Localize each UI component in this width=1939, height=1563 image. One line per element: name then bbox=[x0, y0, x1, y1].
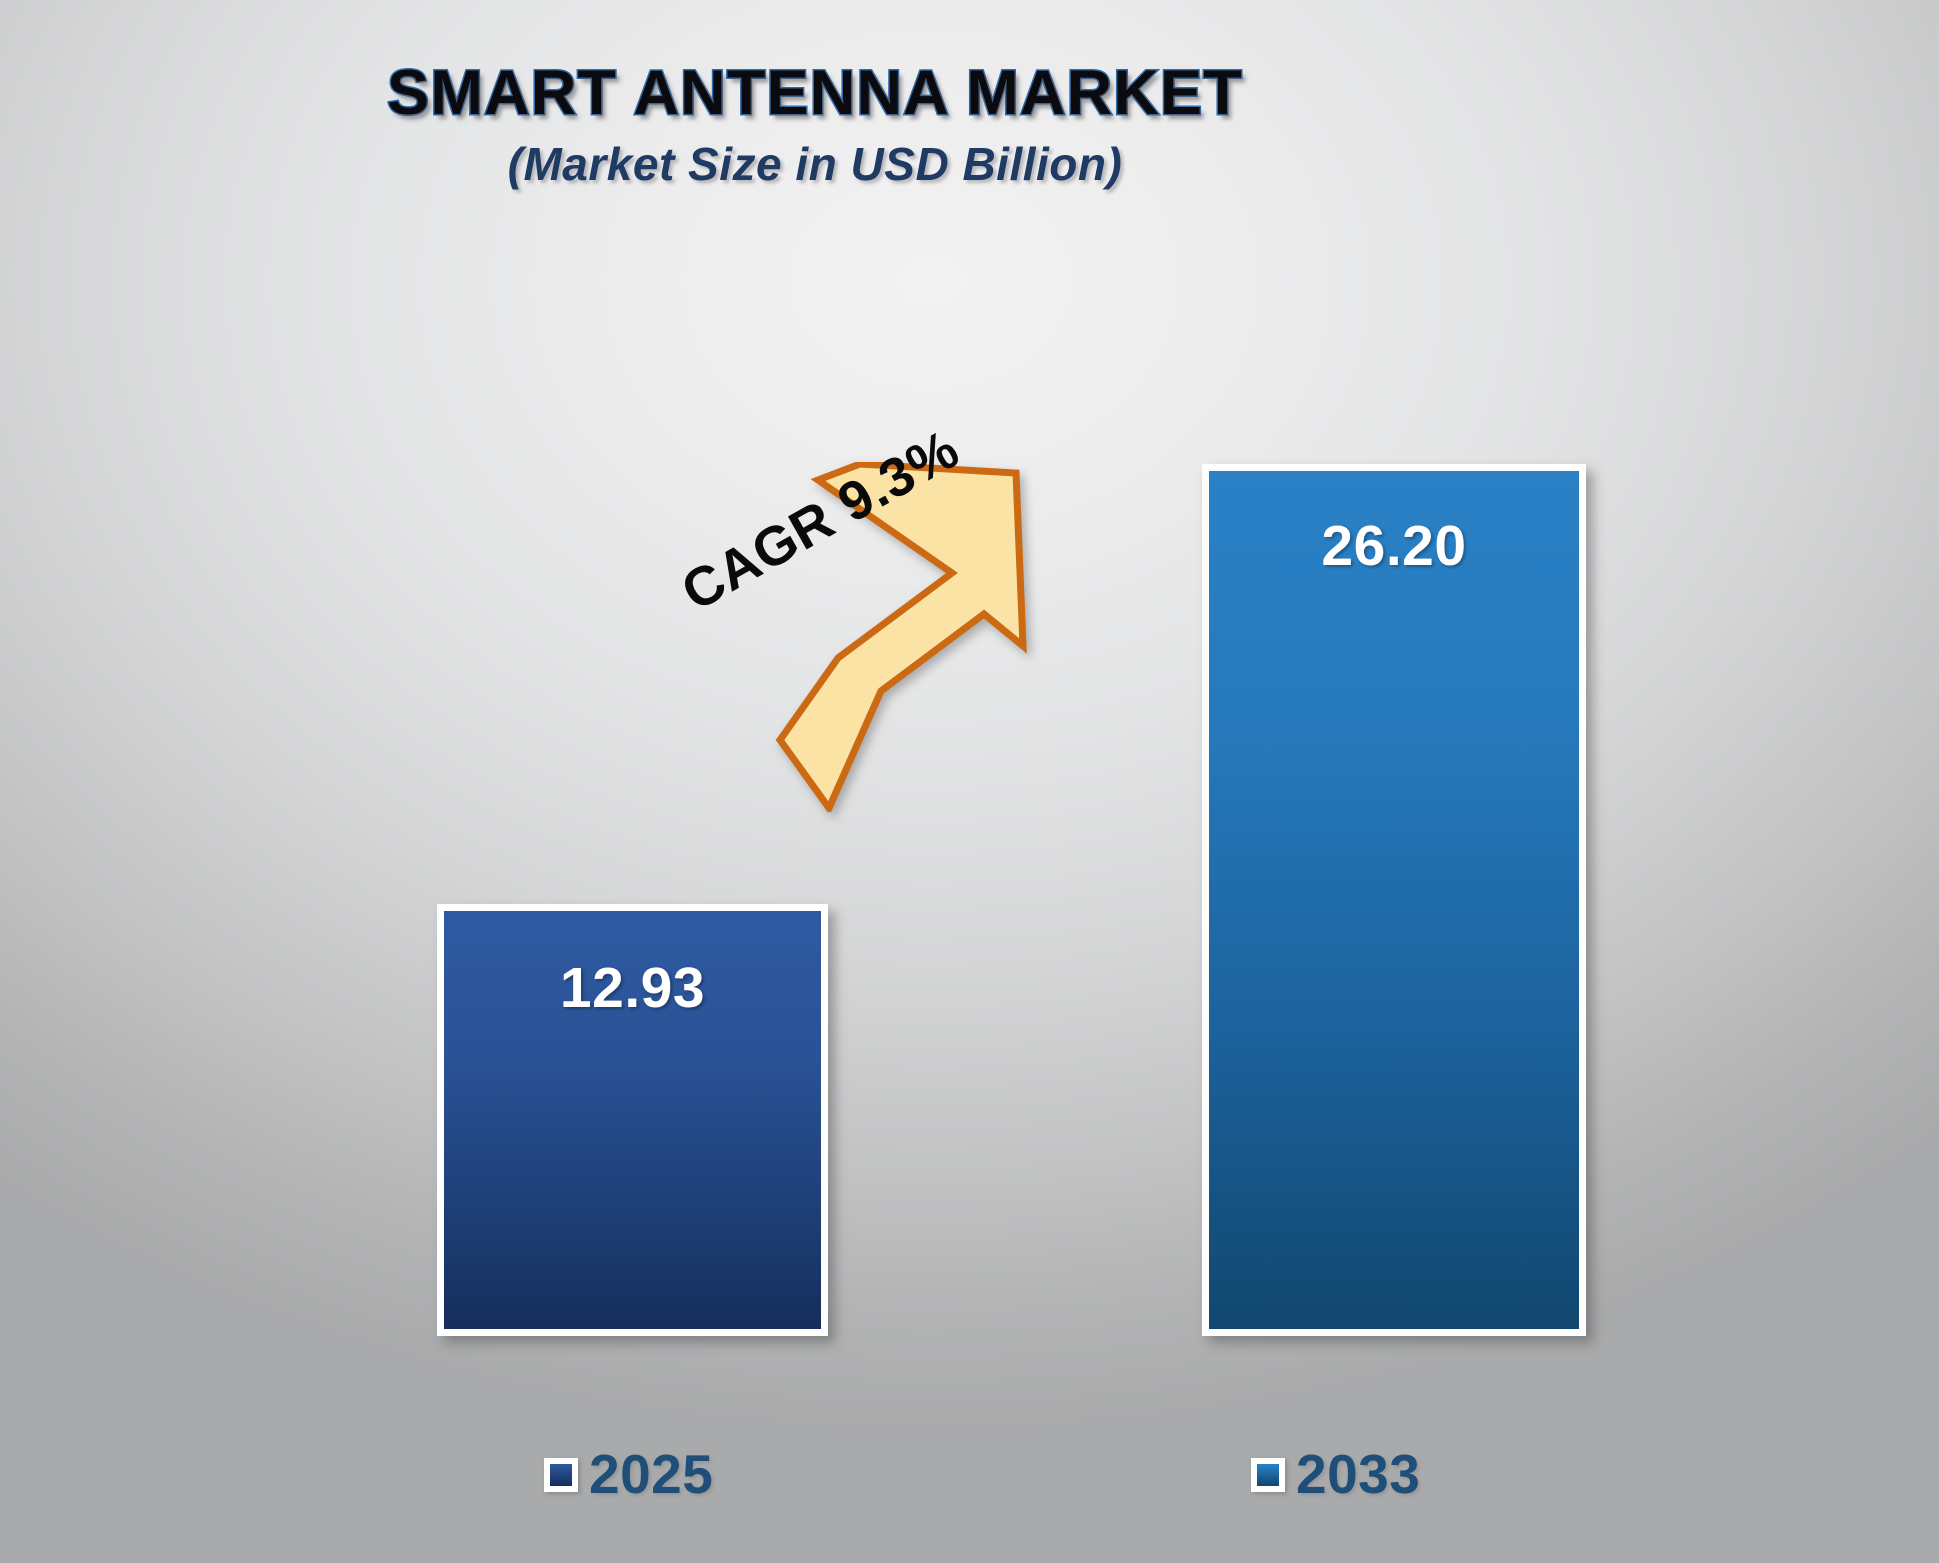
bar-value-2033: 26.20 bbox=[1209, 513, 1579, 579]
bar-2033: 26.20 bbox=[1202, 464, 1586, 1336]
bar-2025: 12.93 bbox=[437, 904, 828, 1336]
chart-subtitle: (Market Size in USD Billion) bbox=[0, 137, 1630, 191]
chart-title-block: SMART ANTENNA MARKET (Market Size in USD… bbox=[0, 62, 1630, 191]
chart-canvas: SMART ANTENNA MARKET (Market Size in USD… bbox=[0, 0, 1939, 1563]
legend-item-2025[interactable]: 2025 bbox=[544, 1447, 713, 1502]
legend-label-2025: 2025 bbox=[589, 1447, 713, 1502]
legend-label-2033: 2033 bbox=[1296, 1447, 1420, 1502]
page-title: SMART ANTENNA MARKET bbox=[0, 62, 1630, 125]
legend-swatch-2025-icon bbox=[544, 1458, 578, 1492]
bar-value-2025: 12.93 bbox=[444, 955, 821, 1021]
legend-swatch-2033-icon bbox=[1251, 1458, 1285, 1492]
legend-item-2033[interactable]: 2033 bbox=[1251, 1447, 1420, 1502]
